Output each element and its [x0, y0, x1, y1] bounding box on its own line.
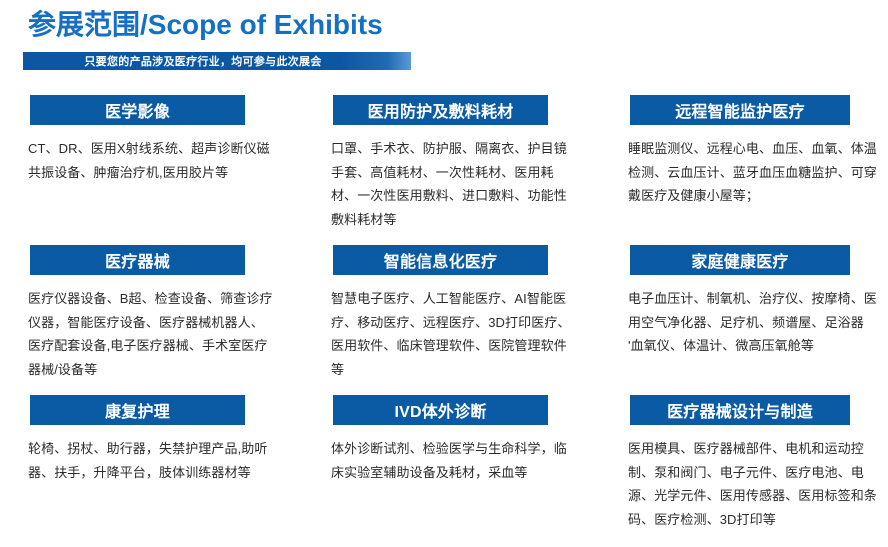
exhibit-card-smart-informatization[interactable]: 智能信息化医疗 智慧电子医疗、人工智能医疗、AI智能医疗、移动医疗、远程医疗、3…	[333, 245, 583, 381]
card-title: 医用防护及敷料耗材	[368, 98, 514, 122]
card-title-bar: 医疗器械设计与制造	[630, 395, 850, 425]
card-body: CT、DR、医用X射线系统、超声诊断仪磁共振设备、肿瘤治疗机,医用胶片等	[28, 137, 276, 184]
subtitle-banner: 只要您的产品涉及医疗行业，均可参与此次展会	[23, 52, 411, 70]
card-title: IVD体外诊断	[394, 398, 486, 422]
subtitle-text: 只要您的产品涉及医疗行业，均可参与此次展会	[84, 53, 321, 69]
card-title: 智能信息化医疗	[384, 248, 497, 272]
card-title-bar: 智能信息化医疗	[333, 245, 548, 275]
exhibit-card-medical-imaging[interactable]: 医学影像 CT、DR、医用X射线系统、超声诊断仪磁共振设备、肿瘤治疗机,医用胶片…	[30, 95, 280, 184]
card-title-bar: 医疗器械	[30, 245, 245, 275]
exhibit-card-rehabilitation-care[interactable]: 康复护理 轮椅、拐杖、助行器，失禁护理产品,助听器、扶手，升降平台，肢体训练器材…	[30, 395, 280, 484]
card-title-bar: 医用防护及敷料耗材	[333, 95, 548, 125]
card-body: 体外诊断试剂、检验医学与生命科学，临床实验室辅助设备及耗材，采血等	[331, 437, 579, 484]
card-title: 医疗器械设计与制造	[667, 398, 813, 422]
card-title-bar: IVD体外诊断	[333, 395, 548, 425]
card-body: 医疗仪器设备、B超、检查设备、筛查诊疗仪器，智能医疗设备、医疗器械机器人、医疗配…	[28, 287, 276, 381]
card-title: 家庭健康医疗	[691, 248, 788, 272]
card-title: 医疗器械	[105, 248, 170, 272]
card-row: 康复护理 轮椅、拐杖、助行器，失禁护理产品,助听器、扶手，升降平台，肢体训练器材…	[0, 395, 888, 547]
exhibit-card-protective-dressing[interactable]: 医用防护及敷料耗材 口罩、手术衣、防护服、隔离衣、护目镜手套、高值耗材、一次性耗…	[333, 95, 583, 231]
card-body: 口罩、手术衣、防护服、隔离衣、护目镜手套、高值耗材、一次性耗材、医用耗材、一次性…	[331, 137, 579, 231]
card-body: 轮椅、拐杖、助行器，失禁护理产品,助听器、扶手，升降平台，肢体训练器材等	[28, 437, 276, 484]
exhibit-scope-grid: 医学影像 CT、DR、医用X射线系统、超声诊断仪磁共振设备、肿瘤治疗机,医用胶片…	[0, 95, 888, 547]
card-body: 电子血压计、制氧机、治疗仪、按摩椅、医用空气净化器、足疗机、频谱屋、足浴器 '血…	[628, 287, 878, 358]
card-body: 睡眠监测仪、远程心电、血压、血氧、体温检测、云血压计、蓝牙血压血糖监护、可穿戴医…	[628, 137, 878, 208]
card-title: 康复护理	[105, 398, 170, 422]
exhibit-card-ivd[interactable]: IVD体外诊断 体外诊断试剂、检验医学与生命科学，临床实验室辅助设备及耗材，采血…	[333, 395, 583, 484]
card-body: 医用模具、医疗器械部件、电机和运动控制、泵和阀门、电子元件、医疗电池、电源、光学…	[628, 437, 878, 531]
exhibit-card-remote-monitoring[interactable]: 远程智能监护医疗 睡眠监测仪、远程心电、血压、血氧、体温检测、云血压计、蓝牙血压…	[630, 95, 880, 208]
card-row: 医疗器械 医疗仪器设备、B超、检查设备、筛查诊疗仪器，智能医疗设备、医疗器械机器…	[0, 245, 888, 395]
card-title-bar: 康复护理	[30, 395, 245, 425]
exhibit-card-device-design-manufacturing[interactable]: 医疗器械设计与制造 医用模具、医疗器械部件、电机和运动控制、泵和阀门、电子元件、…	[630, 395, 880, 531]
card-body: 智慧电子医疗、人工智能医疗、AI智能医疗、移动医疗、远程医疗、3D打印医疗、医用…	[331, 287, 579, 381]
card-title: 医学影像	[105, 98, 170, 122]
page-title: 参展范围/Scope of Exhibits	[28, 6, 383, 44]
card-title-bar: 远程智能监护医疗	[630, 95, 850, 125]
card-title: 远程智能监护医疗	[675, 98, 805, 122]
exhibit-card-medical-devices[interactable]: 医疗器械 医疗仪器设备、B超、检查设备、筛查诊疗仪器，智能医疗设备、医疗器械机器…	[30, 245, 280, 381]
card-row: 医学影像 CT、DR、医用X射线系统、超声诊断仪磁共振设备、肿瘤治疗机,医用胶片…	[0, 95, 888, 245]
card-title-bar: 家庭健康医疗	[630, 245, 850, 275]
exhibit-card-home-health[interactable]: 家庭健康医疗 电子血压计、制氧机、治疗仪、按摩椅、医用空气净化器、足疗机、频谱屋…	[630, 245, 880, 358]
card-title-bar: 医学影像	[30, 95, 245, 125]
